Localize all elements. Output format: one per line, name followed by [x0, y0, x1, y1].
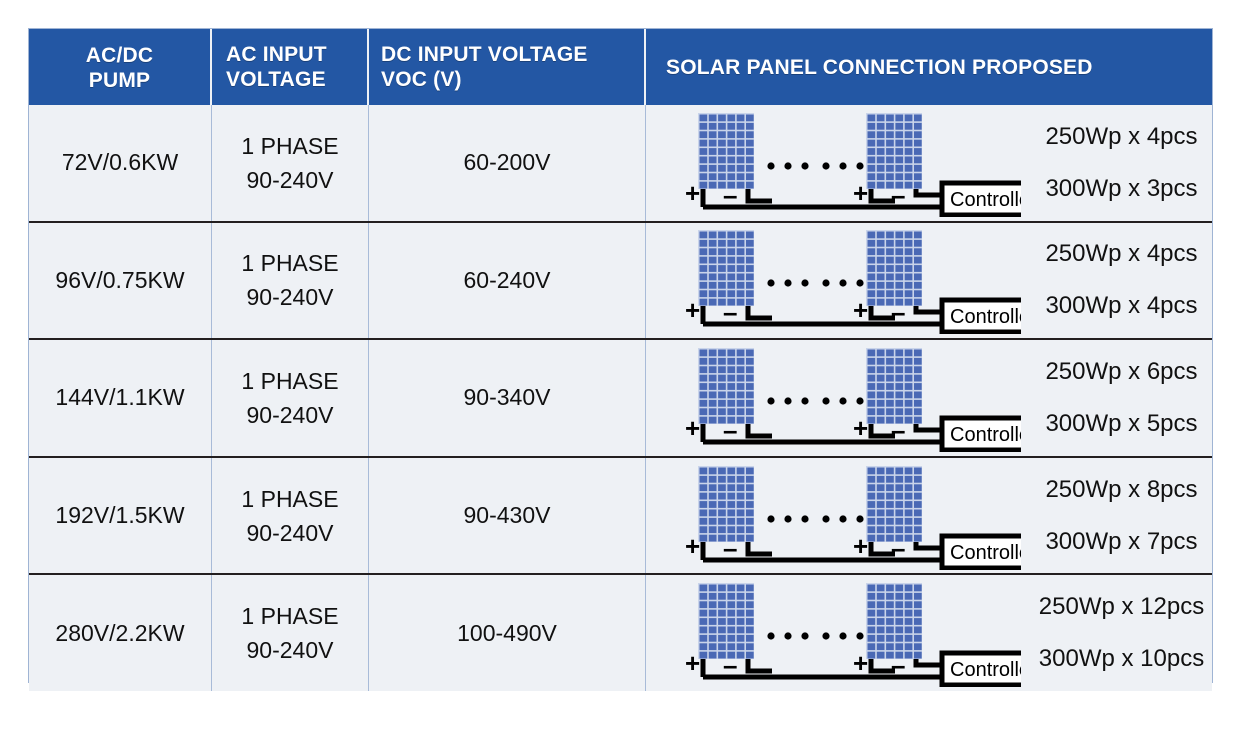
controller-box: Controller: [942, 300, 1021, 332]
ellipsis-dot: [801, 397, 808, 404]
solar-cell: [746, 534, 754, 541]
solar-cell: [737, 475, 745, 482]
solar-cell: [914, 484, 922, 491]
solar-cell: [700, 181, 708, 188]
table-row: 280V/2.2KW1 PHASE90-240V100-490V + – + –: [29, 573, 1212, 691]
solar-cell: [877, 467, 885, 474]
solar-cell: [709, 291, 717, 298]
solar-cell: [886, 475, 894, 482]
solar-cell: [877, 148, 885, 155]
solar-cell: [746, 349, 754, 356]
solar-cell: [868, 408, 876, 415]
solar-panel-last: [866, 230, 922, 306]
panel-quantity-list: 250Wp x 12pcs300Wp x 10pcs: [1021, 581, 1212, 685]
solar-cell: [895, 484, 903, 491]
ellipsis-dot: [784, 515, 791, 522]
cell-dc-input-voltage: 60-200V: [369, 105, 646, 221]
solar-cell: [700, 509, 708, 516]
solar-cell: [868, 265, 876, 272]
controller-box: Controller: [942, 418, 1021, 450]
solar-cell: [905, 475, 913, 482]
solar-cell: [886, 400, 894, 407]
solar-cell: [718, 391, 726, 398]
solar-cell: [700, 148, 708, 155]
solar-cell: [914, 232, 922, 239]
ellipsis-dot: [856, 633, 863, 640]
solar-cell: [718, 349, 726, 356]
solar-cell: [914, 400, 922, 407]
solar-cell: [718, 257, 726, 264]
solar-cell: [727, 484, 735, 491]
solar-panel-last: [866, 348, 922, 424]
solar-cell: [700, 131, 708, 138]
solar-cell: [877, 610, 885, 617]
solar-cell: [727, 114, 735, 121]
solar-cell: [905, 383, 913, 390]
solar-cell: [718, 240, 726, 247]
ac-range-value: 90-240V: [247, 163, 334, 197]
solar-cell: [709, 282, 717, 289]
ellipsis-dot: [767, 162, 774, 169]
solar-cell: [914, 366, 922, 373]
solar-cell: [877, 299, 885, 306]
solar-cell: [746, 240, 754, 247]
solar-cell: [895, 517, 903, 524]
positive-terminal-first-icon: +: [685, 295, 700, 325]
solar-cell: [727, 375, 735, 382]
solar-cell: [737, 601, 745, 608]
cell-acdc-pump: 280V/2.2KW: [29, 575, 212, 691]
solar-cell: [746, 148, 754, 155]
solar-cell: [886, 375, 894, 382]
solar-cell: [868, 610, 876, 617]
solar-cell: [727, 635, 735, 642]
solar-cell: [914, 643, 922, 650]
ellipsis-dot: [822, 280, 829, 287]
solar-cell: [905, 232, 913, 239]
solar-cell: [877, 131, 885, 138]
solar-cell: [737, 148, 745, 155]
solar-cell: [700, 156, 708, 163]
solar-cell: [746, 585, 754, 592]
ac-phase-value: 1 PHASE: [241, 246, 338, 280]
solar-cell: [709, 139, 717, 146]
solar-cell: [709, 299, 717, 306]
ellipsis-dot: [839, 280, 846, 287]
solar-cell: [737, 249, 745, 256]
solar-cell: [886, 585, 894, 592]
solar-cell: [868, 366, 876, 373]
positive-terminal-first-icon: +: [685, 531, 700, 561]
solar-cell: [868, 517, 876, 524]
solar-cell: [895, 349, 903, 356]
column-header-dc-input-voltage-line2: VOC (V): [381, 67, 588, 92]
table-body: 72V/0.6KW1 PHASE90-240V60-200V + – + –: [29, 105, 1212, 691]
panel-quantity-300wp: 300Wp x 5pcs: [1045, 398, 1197, 450]
solar-panel-connection-diagram: + – + – Controller: [676, 344, 1021, 452]
panel-quantity-list: 250Wp x 6pcs300Wp x 5pcs: [1021, 346, 1212, 450]
solar-cell: [737, 165, 745, 172]
ellipsis-dot: [801, 633, 808, 640]
solar-cell: [905, 358, 913, 365]
ac-range-value: 90-240V: [247, 398, 334, 432]
solar-cell: [718, 509, 726, 516]
solar-cell: [709, 375, 717, 382]
solar-cell: [905, 643, 913, 650]
solar-cell: [746, 358, 754, 365]
solar-cell: [886, 232, 894, 239]
ellipsis-dot: [839, 515, 846, 522]
ellipsis-dot: [856, 280, 863, 287]
solar-cell: [700, 257, 708, 264]
solar-cell: [914, 601, 922, 608]
solar-panel-connection-diagram: + – + – Controller: [676, 109, 1021, 217]
solar-cell: [895, 232, 903, 239]
solar-cell: [718, 517, 726, 524]
cell-ac-input-voltage: 1 PHASE90-240V: [212, 105, 369, 221]
solar-cell: [718, 585, 726, 592]
solar-cell: [700, 593, 708, 600]
ellipsis-dot: [784, 280, 791, 287]
solar-cell: [886, 114, 894, 121]
solar-cell: [737, 517, 745, 524]
solar-cell: [700, 417, 708, 424]
ac-phase-value: 1 PHASE: [241, 129, 338, 163]
solar-cell: [727, 274, 735, 281]
solar-cell: [737, 391, 745, 398]
positive-terminal-first-icon: +: [685, 648, 700, 678]
solar-cell: [895, 282, 903, 289]
solar-cell: [914, 417, 922, 424]
solar-cell: [868, 349, 876, 356]
solar-cell: [868, 534, 876, 541]
solar-cell: [886, 349, 894, 356]
solar-cell: [905, 123, 913, 130]
solar-cell: [877, 274, 885, 281]
column-header-acdc-pump: AC/DC PUMP: [29, 29, 212, 105]
solar-cell: [700, 492, 708, 499]
solar-cell: [718, 475, 726, 482]
solar-cell: [727, 282, 735, 289]
solar-cell: [886, 501, 894, 508]
column-header-solar-panel-connection-label: SOLAR PANEL CONNECTION PROPOSED: [666, 55, 1093, 80]
column-header-ac-input-voltage: AC INPUT VOLTAGE: [212, 29, 369, 105]
solar-cell: [886, 618, 894, 625]
solar-cell: [718, 484, 726, 491]
table-header-row: AC/DC PUMP AC INPUT VOLTAGE DC INPUT VOL…: [29, 29, 1212, 105]
solar-cell: [895, 618, 903, 625]
cell-ac-input-voltage: 1 PHASE90-240V: [212, 575, 369, 691]
ac-range-value: 90-240V: [247, 633, 334, 667]
diagram-container: + – + – Controller: [676, 226, 1021, 334]
solar-cell: [700, 139, 708, 146]
table-row: 96V/0.75KW1 PHASE90-240V60-240V + – + –: [29, 221, 1212, 339]
solar-cell: [905, 114, 913, 121]
table-row: 72V/0.6KW1 PHASE90-240V60-200V + – + –: [29, 105, 1212, 221]
solar-cell: [737, 467, 745, 474]
solar-cell: [709, 391, 717, 398]
solar-cell: [737, 131, 745, 138]
solar-cell: [905, 173, 913, 180]
solar-cell: [877, 526, 885, 533]
solar-cell: [737, 526, 745, 533]
ellipsis-dot: [801, 515, 808, 522]
solar-cell: [886, 492, 894, 499]
solar-cell: [914, 265, 922, 272]
solar-cell: [746, 492, 754, 499]
panel-quantity-300wp: 300Wp x 3pcs: [1045, 163, 1197, 215]
dc-voc-value: 90-340V: [464, 384, 551, 411]
column-header-acdc-pump-line1: AC/DC: [86, 44, 154, 67]
solar-cell: [737, 509, 745, 516]
solar-cell: [895, 249, 903, 256]
solar-cell: [914, 534, 922, 541]
panel-series-ellipsis-dots: [767, 397, 863, 404]
solar-cell: [868, 593, 876, 600]
solar-cell: [709, 534, 717, 541]
solar-cell: [746, 643, 754, 650]
solar-cell: [877, 240, 885, 247]
solar-cell: [709, 366, 717, 373]
solar-cell: [868, 299, 876, 306]
solar-cell: [905, 627, 913, 634]
solar-cell: [868, 375, 876, 382]
solar-cell: [905, 291, 913, 298]
solar-cell: [727, 627, 735, 634]
solar-cell: [914, 123, 922, 130]
wiring-lines: [703, 424, 944, 442]
solar-cell: [746, 291, 754, 298]
solar-cell: [914, 509, 922, 516]
solar-cell: [746, 265, 754, 272]
solar-cell: [905, 265, 913, 272]
solar-cell: [727, 467, 735, 474]
acdc-pump-value: 144V/1.1KW: [55, 384, 184, 411]
solar-cell: [905, 467, 913, 474]
controller-label: Controller: [950, 424, 1021, 446]
solar-cell: [877, 165, 885, 172]
solar-cell: [700, 366, 708, 373]
solar-panel-first: [698, 348, 754, 424]
panel-quantity-list: 250Wp x 8pcs300Wp x 7pcs: [1021, 464, 1212, 568]
solar-cell: [886, 635, 894, 642]
solar-cell: [868, 181, 876, 188]
solar-panel-first: [698, 466, 754, 542]
solar-cell: [914, 274, 922, 281]
solar-cell: [709, 475, 717, 482]
solar-cell: [709, 484, 717, 491]
solar-cell: [877, 501, 885, 508]
solar-cell: [746, 131, 754, 138]
solar-cell: [914, 501, 922, 508]
solar-cell: [700, 526, 708, 533]
solar-cell: [727, 601, 735, 608]
solar-cell: [886, 165, 894, 172]
solar-cell: [737, 400, 745, 407]
positive-terminal-last-icon: +: [853, 295, 868, 325]
solar-cell: [737, 299, 745, 306]
cell-solar-panel-connection: + – + – Controller 250Wp x 4pcs300Wp x 4…: [646, 223, 1212, 339]
solar-cell: [700, 358, 708, 365]
solar-cell: [746, 181, 754, 188]
solar-cell: [877, 484, 885, 491]
solar-cell: [914, 173, 922, 180]
solar-cell: [877, 249, 885, 256]
solar-cell: [914, 165, 922, 172]
solar-cell: [718, 627, 726, 634]
solar-cell: [737, 274, 745, 281]
solar-cell: [895, 501, 903, 508]
solar-cell: [737, 635, 745, 642]
solar-cell: [886, 610, 894, 617]
solar-cell: [877, 492, 885, 499]
cell-dc-input-voltage: 60-240V: [369, 223, 646, 339]
solar-cell: [868, 282, 876, 289]
solar-cell: [877, 417, 885, 424]
solar-cell: [746, 475, 754, 482]
solar-cell: [868, 652, 876, 659]
solar-cell: [737, 358, 745, 365]
solar-cell: [895, 131, 903, 138]
solar-cell: [727, 610, 735, 617]
solar-panel-first: [698, 230, 754, 306]
solar-cell: [905, 391, 913, 398]
solar-pump-specification-table: AC/DC PUMP AC INPUT VOLTAGE DC INPUT VOL…: [28, 28, 1213, 683]
column-header-ac-input-voltage-line1: AC INPUT: [226, 43, 327, 66]
solar-cell: [895, 593, 903, 600]
solar-cell: [886, 383, 894, 390]
solar-cell: [737, 366, 745, 373]
solar-cell: [895, 240, 903, 247]
solar-cell: [868, 475, 876, 482]
positive-terminal-last-icon: +: [853, 413, 868, 443]
solar-cell: [877, 282, 885, 289]
solar-cell: [718, 131, 726, 138]
solar-cell: [905, 517, 913, 524]
solar-cell: [877, 257, 885, 264]
solar-cell: [877, 601, 885, 608]
solar-cell: [914, 114, 922, 121]
solar-cell: [877, 181, 885, 188]
solar-cell: [746, 165, 754, 172]
solar-cell: [914, 635, 922, 642]
solar-cell: [737, 156, 745, 163]
solar-cell: [709, 400, 717, 407]
diagram-container: + – + – Controller: [676, 344, 1021, 452]
solar-cell: [895, 610, 903, 617]
solar-cell: [877, 391, 885, 398]
solar-cell: [709, 585, 717, 592]
ellipsis-dot: [822, 162, 829, 169]
solar-cell: [868, 509, 876, 516]
solar-cell: [905, 585, 913, 592]
solar-cell: [737, 501, 745, 508]
solar-cell: [737, 291, 745, 298]
solar-cell: [877, 232, 885, 239]
solar-cell: [746, 282, 754, 289]
ac-range-value: 90-240V: [247, 280, 334, 314]
solar-cell: [737, 383, 745, 390]
solar-cell: [727, 131, 735, 138]
acdc-pump-value: 192V/1.5KW: [55, 502, 184, 529]
solar-cell: [727, 139, 735, 146]
dc-voc-value: 60-200V: [464, 149, 551, 176]
solar-cell: [746, 467, 754, 474]
solar-cell: [914, 240, 922, 247]
dc-voc-value: 100-490V: [457, 620, 557, 647]
solar-cell: [914, 358, 922, 365]
solar-cell: [709, 114, 717, 121]
solar-cell: [700, 610, 708, 617]
solar-cell: [895, 156, 903, 163]
solar-cell: [727, 475, 735, 482]
solar-cell: [886, 156, 894, 163]
solar-cell: [709, 601, 717, 608]
solar-cell: [886, 265, 894, 272]
solar-cell: [914, 139, 922, 146]
solar-cell: [709, 181, 717, 188]
solar-cell: [700, 375, 708, 382]
solar-cell: [746, 610, 754, 617]
solar-cell: [700, 467, 708, 474]
solar-cell: [718, 610, 726, 617]
solar-cell: [727, 123, 735, 130]
solar-cell: [709, 265, 717, 272]
solar-cell: [905, 299, 913, 306]
solar-cell: [746, 618, 754, 625]
solar-cell: [877, 509, 885, 516]
solar-cell: [737, 492, 745, 499]
solar-cell: [727, 257, 735, 264]
solar-cell: [886, 139, 894, 146]
solar-cell: [914, 593, 922, 600]
solar-cell: [905, 408, 913, 415]
solar-cell: [727, 383, 735, 390]
cell-dc-input-voltage: 100-490V: [369, 575, 646, 691]
solar-cell: [886, 467, 894, 474]
solar-cell: [877, 383, 885, 390]
solar-cell: [868, 501, 876, 508]
solar-cell: [914, 391, 922, 398]
solar-cell: [727, 585, 735, 592]
solar-cell: [877, 593, 885, 600]
solar-cell: [718, 232, 726, 239]
solar-cell: [905, 240, 913, 247]
solar-cell: [709, 408, 717, 415]
solar-cell: [737, 417, 745, 424]
solar-cell: [905, 593, 913, 600]
solar-cell: [709, 652, 717, 659]
solar-cell: [700, 240, 708, 247]
solar-cell: [868, 391, 876, 398]
solar-cell: [905, 257, 913, 264]
solar-cell: [914, 282, 922, 289]
solar-cell: [905, 501, 913, 508]
solar-cell: [877, 618, 885, 625]
solar-cell: [914, 383, 922, 390]
solar-cell: [737, 349, 745, 356]
solar-cell: [868, 400, 876, 407]
panel-quantity-250wp: 250Wp x 4pcs: [1045, 228, 1197, 280]
solar-cell: [868, 643, 876, 650]
controller-label: Controller: [950, 659, 1021, 681]
column-header-dc-input-voltage-line1: DC INPUT VOLTAGE: [381, 43, 588, 66]
solar-cell: [905, 148, 913, 155]
solar-cell: [914, 610, 922, 617]
solar-cell: [727, 240, 735, 247]
solar-cell: [709, 618, 717, 625]
solar-cell: [895, 165, 903, 172]
